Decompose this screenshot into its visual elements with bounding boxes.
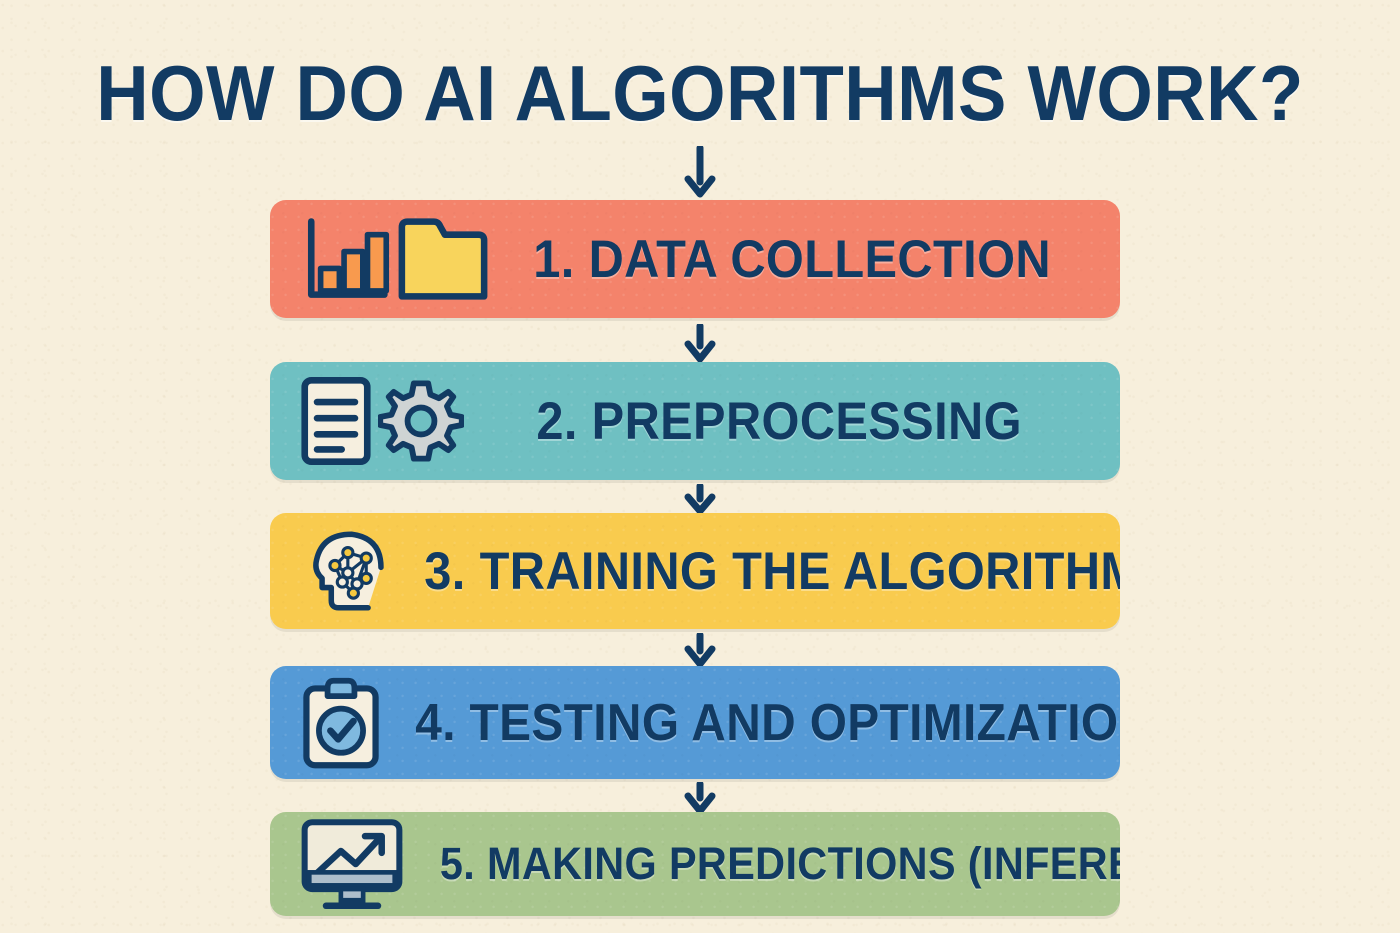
bar-chart-icon [300,214,390,304]
arrow-down-icon [683,146,717,198]
step-4-label: 4. TESTING AND OPTIMIZATION [415,693,1120,753]
step-row-testing[interactable]: 4. TESTING AND OPTIMIZATION [270,666,1120,779]
step-1-label: 1. DATA COLLECTION [515,229,1095,290]
page-title: HOW DO AI ALGORITHMS WORK? [49,48,1351,139]
step-5-icon-group [300,817,404,911]
step-row-data-collection[interactable]: 1. DATA COLLECTION [270,200,1120,318]
head-neural-network-icon [300,525,392,617]
step-row-training[interactable]: 3. TRAINING THE ALGORITHM [270,513,1120,629]
arrow-down-icon [683,324,717,362]
document-icon [300,375,372,467]
arrow-down-icon [683,782,717,814]
step-2-label: 2. PREPROCESSING [490,391,1094,452]
step-row-preprocessing[interactable]: 2. PREPROCESSING [270,362,1120,480]
clipboard-check-icon [300,675,382,771]
infographic-canvas: HOW DO AI ALGORITHMS WORK? [0,0,1400,933]
arrow-down-icon [683,484,717,514]
folder-icon [396,216,490,302]
step-row-predictions[interactable]: 5. MAKING PREDICTIONS (INFERENCE) [270,812,1120,916]
step-4-icon-group [300,675,382,771]
monitor-trend-icon [300,817,404,911]
step-1-icon-group [300,214,490,304]
step-3-label: 3. TRAINING THE ALGORITHM [424,541,1120,602]
arrow-down-icon [683,633,717,667]
step-5-label: 5. MAKING PREDICTIONS (INFERENCE) [440,838,1120,890]
step-3-icon-group [300,525,392,617]
gear-icon [378,378,464,464]
step-2-icon-group [300,375,464,467]
